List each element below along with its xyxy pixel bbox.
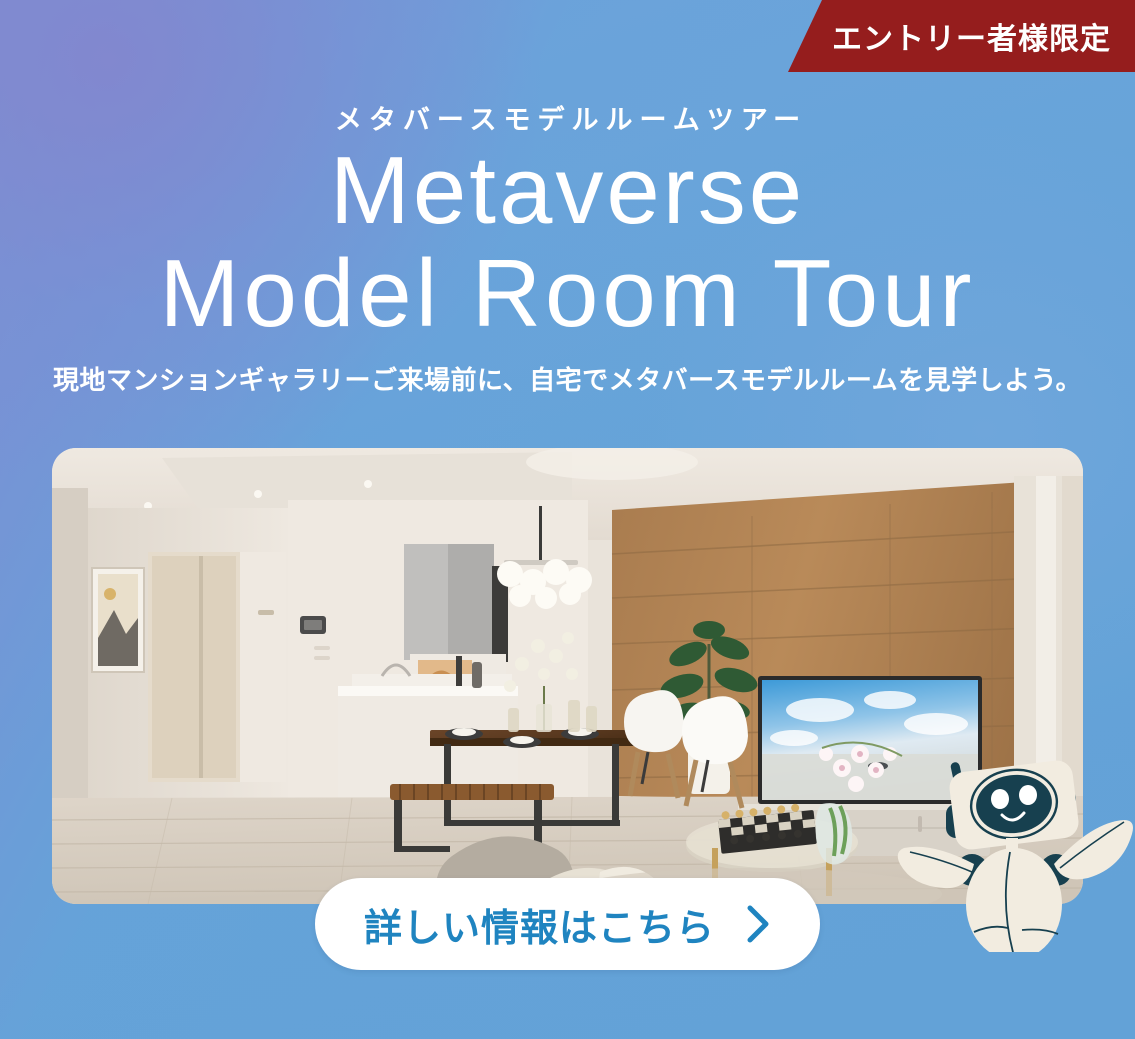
headline-line-2: Model Room Tour [0,243,1135,346]
entry-only-badge: エントリー者様限定 [788,0,1135,72]
entry-only-badge-label: エントリー者様限定 [832,14,1111,58]
chevron-right-icon [745,904,771,944]
details-cta-button[interactable]: 詳しい情報はこちら [315,878,820,970]
model-room-illustration [52,448,1083,904]
headline-line-1: Metaverse [0,140,1135,243]
promo-banner: エントリー者様限定 メタバースモデルルームツアー Metaverse Model… [0,0,1135,1039]
subtitle-text: 現地マンションギャラリーご来場前に、自宅でメタバースモデルルームを見学しよう。 [0,360,1135,397]
model-room-photo [52,448,1083,904]
page-title: Metaverse Model Room Tour [0,140,1135,345]
details-cta-label: 詳しい情報はこちら [364,897,715,952]
eyebrow-text: メタバースモデルルームツアー [0,98,1135,137]
